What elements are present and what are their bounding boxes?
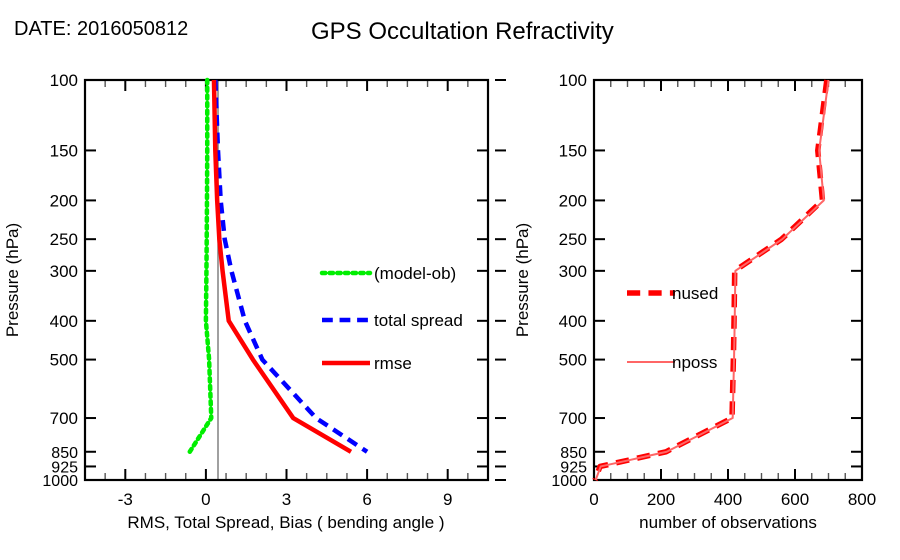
left-panel-series [190,80,367,452]
legend-label-total-spread[interactable]: total spread [374,311,463,330]
y-tick-label: 400 [559,312,587,331]
y-tick-label: 500 [559,351,587,370]
series-line-nposs [596,80,829,480]
y-tick-label: 200 [50,191,78,210]
y-tick-label: 150 [50,141,78,160]
figure-canvas: -303691001502002503004005007008509251000… [0,0,900,560]
x-tick-label: -3 [118,490,133,509]
series-line-total-spread [215,80,367,452]
series-line-rmse [214,80,351,452]
right-panel-ticks [495,80,862,480]
y-tick-label: 1000 [551,473,587,490]
y-tick-label: 100 [50,71,78,90]
legend-label-rmse[interactable]: rmse [374,354,412,373]
right-panel: 0200400600800100150200250300400500700850… [495,71,876,532]
left-panel: -303691001502002503004005007008509251000… [3,71,488,532]
series-line--model-ob- [190,80,211,452]
right-x-axis-title: number of observations [639,513,817,532]
y-tick-label: 300 [559,262,587,281]
y-tick-label: 700 [50,409,78,428]
x-tick-label: 600 [781,490,809,509]
legend-label-nposs[interactable]: nposs [672,353,717,372]
y-tick-label: 700 [559,409,587,428]
left-x-axis-title: RMS, Total Spread, Bias ( bending angle … [127,513,444,532]
y-tick-label: 1000 [42,473,78,490]
right-panel-series [595,80,829,480]
x-tick-label: 6 [362,490,371,509]
x-tick-label: 0 [589,490,598,509]
plot-page: DATE: 2016050812 GPS Occultation Refract… [0,0,900,560]
y-tick-label: 100 [559,71,587,90]
right-panel-legend[interactable]: nusednposs [627,284,718,372]
right-y-axis-title: Pressure (hPa) [513,223,532,337]
y-tick-label: 250 [50,230,78,249]
legend-label--model-ob-[interactable]: (model-ob) [374,264,456,283]
left-y-axis-title: Pressure (hPa) [3,223,22,337]
x-tick-label: 9 [443,490,452,509]
x-tick-label: 200 [647,490,675,509]
y-tick-label: 300 [50,262,78,281]
y-tick-label: 400 [50,312,78,331]
x-tick-label: 0 [201,490,210,509]
y-tick-label: 150 [559,141,587,160]
left-panel-axis-labels: -303691001502002503004005007008509251000 [42,71,452,509]
x-tick-label: 3 [282,490,291,509]
left-panel-legend[interactable]: (model-ob)total spreadrmse [322,264,463,373]
y-tick-label: 200 [559,191,587,210]
x-tick-label: 800 [848,490,876,509]
legend-label-nused[interactable]: nused [672,284,718,303]
y-tick-label: 250 [559,230,587,249]
series-line-nused [595,80,827,480]
x-tick-label: 400 [714,490,742,509]
y-tick-label: 500 [50,351,78,370]
